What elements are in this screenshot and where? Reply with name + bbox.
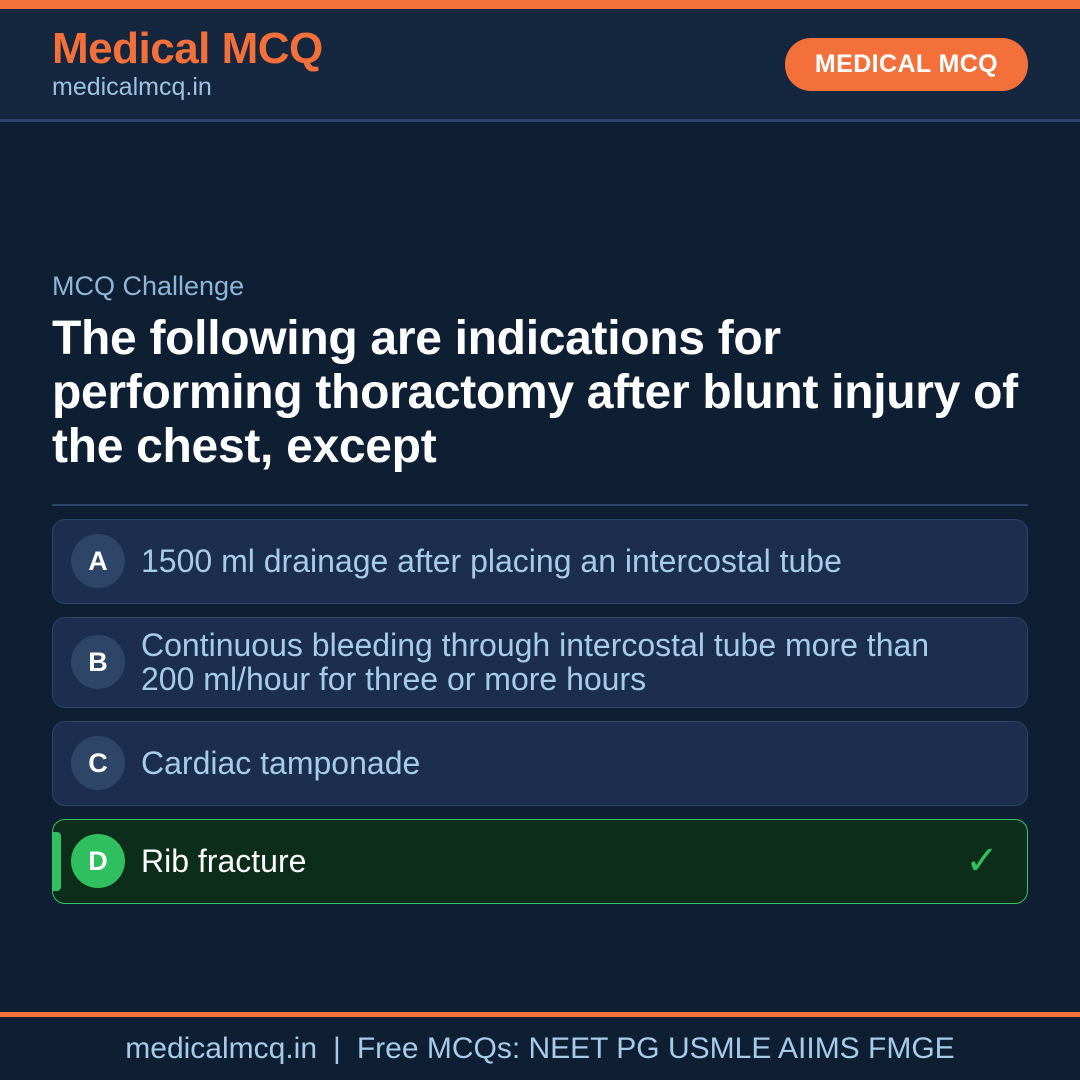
check-icon: ✓ [961,841,1003,881]
mcq-card: Medical MCQ medicalmcq.in MEDICAL MCQ MC… [0,0,1080,1080]
option-b[interactable]: BContinuous bleeding through intercostal… [52,617,1028,708]
footer-exams: Free MCQs: NEET PG USMLE AIIMS FMGE [357,1032,955,1066]
correct-accent-bar [53,832,61,891]
brand-block: Medical MCQ medicalmcq.in [52,26,323,102]
option-a[interactable]: A1500 ml drainage after placing an inter… [52,519,1028,604]
page-header: Medical MCQ medicalmcq.in MEDICAL MCQ [0,9,1080,122]
option-letter-badge: D [71,834,125,888]
brand-title: Medical MCQ [52,26,323,72]
footer-site: medicalmcq.in [125,1032,317,1066]
option-letter-badge: B [71,635,125,689]
bottom-spacer [52,904,1028,1012]
option-label: 1500 ml drainage after placing an interc… [141,544,961,579]
eyebrow-label: MCQ Challenge [52,270,1028,302]
option-d[interactable]: DRib fracture✓ [52,819,1028,904]
page-footer: medicalmcq.in | Free MCQs: NEET PG USMLE… [0,1012,1080,1080]
question-text: The following are indications for perfor… [52,312,1028,473]
option-label: Rib fracture [141,844,961,879]
options-list: A1500 ml drainage after placing an inter… [52,519,1028,904]
option-label: Cardiac tamponade [141,746,961,781]
header-badge: MEDICAL MCQ [785,38,1028,91]
option-c[interactable]: CCardiac tamponade✓ [52,721,1028,806]
top-spacer [52,122,1028,270]
footer-separator: | [317,1032,357,1066]
question-divider [52,504,1028,506]
top-accent-strip [0,0,1080,9]
option-label: Continuous bleeding through intercostal … [141,628,961,697]
main-content: MCQ Challenge The following are indicati… [0,122,1080,1012]
option-letter-badge: C [71,736,125,790]
option-letter-badge: A [71,534,125,588]
brand-url: medicalmcq.in [52,74,323,102]
